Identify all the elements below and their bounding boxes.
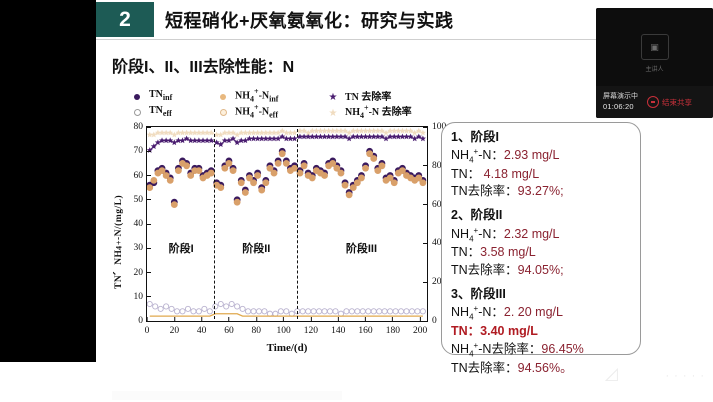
panel-metric-line: NH4+-N：2.93 mg/L <box>451 146 631 166</box>
filled-tan-dot-icon <box>216 88 230 104</box>
panel-spacer <box>451 279 631 286</box>
panel-metric-value: 2.93 mg/L <box>504 148 560 162</box>
phase-label: 阶段III <box>346 240 377 256</box>
end-share-label: 结束共享 <box>662 97 692 108</box>
x-tick: 200 <box>413 321 427 336</box>
legend-label: NH4+-Ninf <box>235 87 278 103</box>
screen-share-toolbar: 屏幕演示中 01:06:20 结束共享 <box>596 86 713 118</box>
legend-label: NH4+-Neff <box>235 103 278 119</box>
x-tick: 160 <box>358 321 372 336</box>
y-tick-right: 60 <box>427 200 442 210</box>
x-tick: 20 <box>170 321 180 336</box>
legend-item-nh4-removal: ★ NH4+-N 去除率 <box>326 103 412 120</box>
panel-metric-label: NH4+-N： <box>451 305 504 319</box>
panel-metric-label: NH4+-N： <box>451 148 504 162</box>
legend-item-tn-removal: ★ TN 去除率 <box>326 88 391 104</box>
share-status-label: 屏幕演示中 <box>603 93 638 102</box>
slide-left-rail <box>0 0 96 402</box>
phase-divider <box>214 129 215 319</box>
panel-block-heading: 3、阶段III <box>451 286 631 303</box>
phase-divider <box>297 129 298 319</box>
screen-share-overlay[interactable]: ▣ 主讲人 屏幕演示中 01:06:20 结束共享 <box>596 8 713 118</box>
y-tick-left: 10 <box>134 292 148 302</box>
panel-metric-value: 3.40 mg/L <box>480 324 538 338</box>
section-number-badge: 2 <box>96 2 154 37</box>
share-timer: 01:06:20 <box>603 102 638 111</box>
y-axis-label-left: TN、NH4+-N/(mg/L) <box>112 152 126 332</box>
panel-block-heading: 1、阶段I <box>451 129 631 146</box>
x-axis-label: Time/(d) <box>146 342 428 354</box>
watermark-logo-icon: ◿ <box>605 364 618 384</box>
presentation-slide: 2 短程硝化+厌氧氨氧化：研究与实践 阶段I、II、III去除性能：N TNin… <box>0 0 713 402</box>
purple-star-icon: ★ <box>326 88 340 104</box>
panel-metric-line: TN去除率：93.27%; <box>451 183 631 200</box>
filled-purple-dot-icon <box>130 88 144 104</box>
y-tick-left: 80 <box>134 122 148 132</box>
section-number: 2 <box>119 9 131 30</box>
y-tick-left: 70 <box>134 146 148 156</box>
chart-title: 阶段I、II、III去除性能：N <box>112 53 294 77</box>
y-tick-left: 60 <box>134 171 148 181</box>
y-tick-right: 40 <box>427 238 442 248</box>
y-tick-right: 20 <box>427 277 442 287</box>
panel-metric-label: NH4+-N去除率： <box>451 342 541 356</box>
x-tick: 140 <box>331 321 345 336</box>
y-tick-left: 40 <box>134 219 148 229</box>
legend-label: NH4+-N 去除率 <box>345 103 412 120</box>
panel-spacer <box>451 200 631 207</box>
panel-metric-value: 94.05%; <box>518 263 564 277</box>
series-tn- <box>147 134 426 153</box>
legend-label: TNeff <box>149 105 172 118</box>
panel-metric-value: 96.45% <box>541 342 583 356</box>
y-tick-left: 50 <box>134 195 148 205</box>
panel-metric-label: TN： <box>451 245 480 259</box>
series-tneff <box>147 301 425 316</box>
watermark-text: · · · · · <box>665 370 705 382</box>
video-stage: ▣ 主讲人 <box>596 8 713 86</box>
legend-item-tn-eff: TNeff <box>130 104 216 120</box>
panel-metric-line: TN去除率：94.05%; <box>451 262 631 279</box>
open-tan-dot-icon <box>216 104 230 120</box>
panel-metric-line: NH4+-N去除率：96.45% <box>451 340 631 360</box>
panel-metric-value: 4.18 mg/L <box>484 167 540 181</box>
x-tick: 180 <box>386 321 400 336</box>
summary-panel: 1、阶段INH4+-N：2.93 mg/LTN： 4.18 mg/LTN去除率：… <box>441 122 641 355</box>
panel-metric-line: TN：3.40 mg/L <box>451 323 631 340</box>
panel-metric-value: 3.58 mg/L <box>480 245 536 259</box>
panel-metric-label: NH4+-N： <box>451 227 504 241</box>
plot-area: 0102030405060708002040608010002040608010… <box>146 126 428 322</box>
panel-metric-line: TN：3.58 mg/L <box>451 244 631 261</box>
avatar-icon: ▣ <box>641 34 669 60</box>
legend-item-nh4-eff: NH4+-Neff <box>216 103 326 119</box>
stop-share-icon <box>647 96 659 108</box>
panel-metric-line: TN： 4.18 mg/L <box>451 166 631 183</box>
phase-label: 阶段II <box>242 240 270 256</box>
y-tick-right: 80 <box>427 161 442 171</box>
participant-name: 主讲人 <box>596 64 713 73</box>
x-tick: 0 <box>145 321 150 336</box>
watermark-bar <box>112 391 342 400</box>
panel-metric-line: NH4+-N：2.32 mg/L <box>451 225 631 245</box>
panel-metric-value: 2.32 mg/L <box>504 227 560 241</box>
panel-metric-label: TN去除率： <box>451 361 518 375</box>
scatter-chart: TN、NH4+-N/(mg/L) 去除率(%) 0102030405060708… <box>114 126 464 356</box>
panel-metric-label: TN： <box>451 324 480 338</box>
y-tick-right: 0 <box>427 316 437 326</box>
slide-title: 短程硝化+厌氧氨氧化：研究与实践 <box>165 7 454 33</box>
header-left-mask <box>0 0 96 40</box>
x-tick: 120 <box>304 321 318 336</box>
panel-metric-label: TN： <box>451 167 484 181</box>
panel-block-heading: 2、阶段II <box>451 207 631 224</box>
y-tick-left: 30 <box>134 243 148 253</box>
panel-metric-value: 2. 20 mg/L <box>504 305 563 319</box>
tan-star-icon: ★ <box>326 104 340 120</box>
end-share-button[interactable]: 结束共享 <box>647 96 692 108</box>
panel-metric-value: 94.56%。 <box>518 361 573 375</box>
panel-metric-line: NH4+-N：2. 20 mg/L <box>451 303 631 323</box>
x-tick: 80 <box>252 321 262 336</box>
legend-item-nh4-inf: NH4+-Ninf <box>216 87 326 103</box>
legend-label: TN 去除率 <box>345 88 391 103</box>
phase-label: 阶段I <box>169 240 194 256</box>
panel-metric-value: 93.27%; <box>518 184 564 198</box>
legend-item-tn-inf: TNinf <box>130 88 216 104</box>
x-tick: 100 <box>276 321 290 336</box>
open-dot-icon <box>130 104 144 120</box>
panel-metric-label: TN去除率： <box>451 263 518 277</box>
share-status: 屏幕演示中 01:06:20 <box>603 93 638 111</box>
x-tick: 40 <box>197 321 207 336</box>
legend-label: TNinf <box>149 89 172 102</box>
plot-series-layer <box>147 127 427 321</box>
panel-metric-label: TN去除率： <box>451 184 518 198</box>
x-tick: 60 <box>224 321 234 336</box>
chart-legend: TNinf NH4+-Ninf ★ TN 去除率 TNeff <box>130 88 460 122</box>
y-tick-left: 20 <box>134 268 148 278</box>
